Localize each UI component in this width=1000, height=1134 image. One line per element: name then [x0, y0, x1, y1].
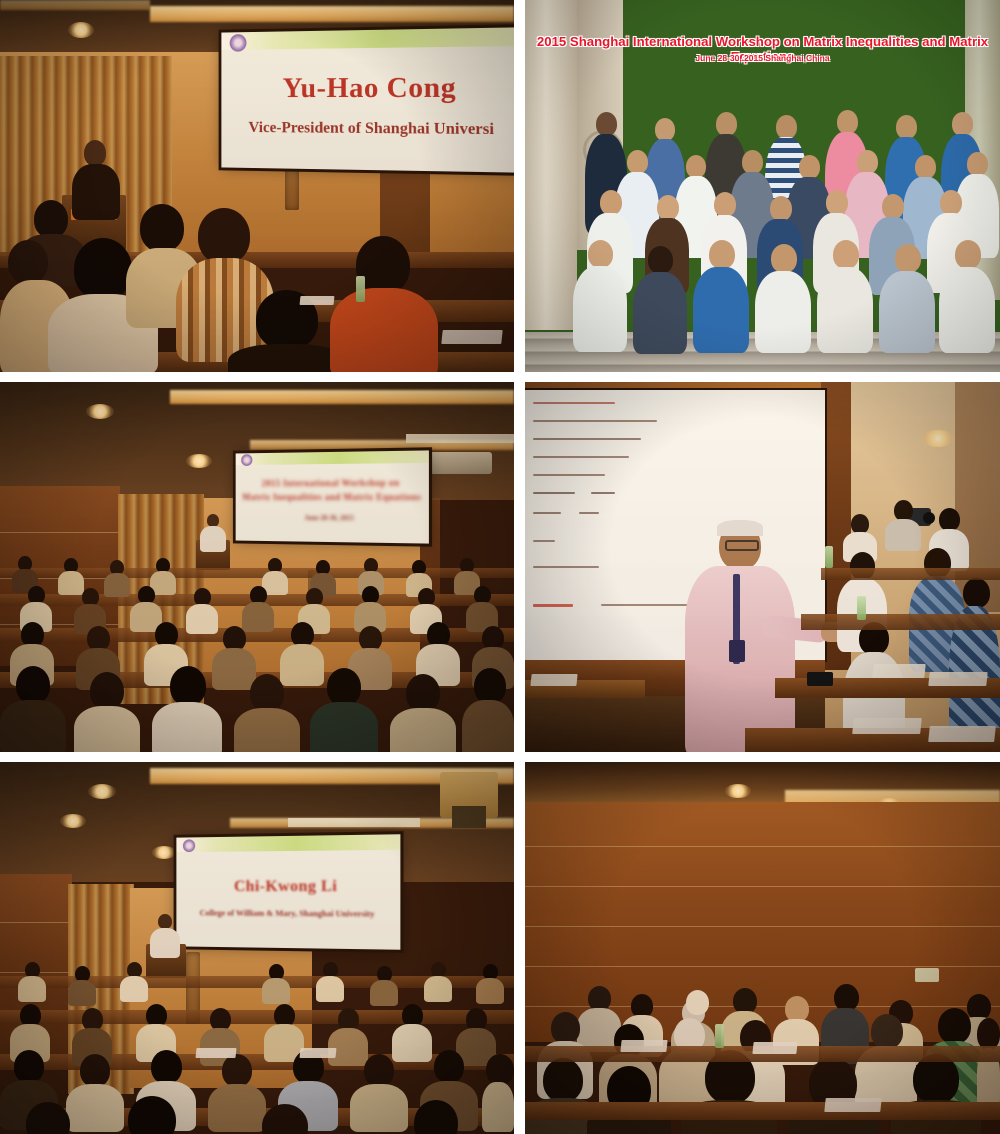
speaker-silhouette — [150, 914, 180, 956]
group-photo-banner-subtitle: June 28-30, 2015 Shanghai,China — [525, 53, 1000, 63]
panel-group-photo: 2015 Shanghai International Workshop on … — [525, 0, 1000, 372]
university-logo-icon — [241, 455, 252, 467]
projection-slide-yu-hao-cong: Yu-Hao Cong Vice-President of Shanghai U… — [221, 27, 514, 173]
projection-slide-chi-kwong-li-visible: Chi-Kwong Li College of William & Mary, … — [176, 834, 400, 949]
panel-opening-ceremony: Yu-Hao Cong Vice-President of Shanghai U… — [0, 0, 514, 372]
speaker-silhouette — [200, 514, 226, 550]
audience-member — [330, 236, 438, 372]
projection-slide-workshop-title-visible: 2015 International Workshop on Matrix In… — [236, 450, 429, 543]
panel-audience-closeup — [525, 762, 1000, 1134]
slide-title: Chi-Kwong Li — [176, 878, 400, 897]
slide-title: Yu-Hao Cong — [221, 71, 514, 105]
panel-speaker-gesturing — [525, 382, 1000, 752]
speaker-figure — [685, 522, 795, 752]
slide-title: 2015 International Workshop on — [236, 477, 429, 488]
slide-date: June 28-30, 2015 — [236, 513, 429, 522]
slide-subtitle: College of William & Mary, Shanghai Univ… — [176, 908, 400, 919]
panel-lecture-hall-wide: 2015 International Workshop on Matrix In… — [0, 382, 514, 752]
slide-subtitle: Matrix Inequalities and Matrix Equations — [236, 492, 429, 502]
panel-talk-chi-kwong-li: Chi-Kwong Li College of William & Mary, … — [0, 762, 514, 1134]
slide-subtitle: Vice-President of Shanghai Universi — [221, 119, 514, 139]
photo-collage: Yu-Hao Cong Vice-President of Shanghai U… — [0, 0, 1000, 1134]
